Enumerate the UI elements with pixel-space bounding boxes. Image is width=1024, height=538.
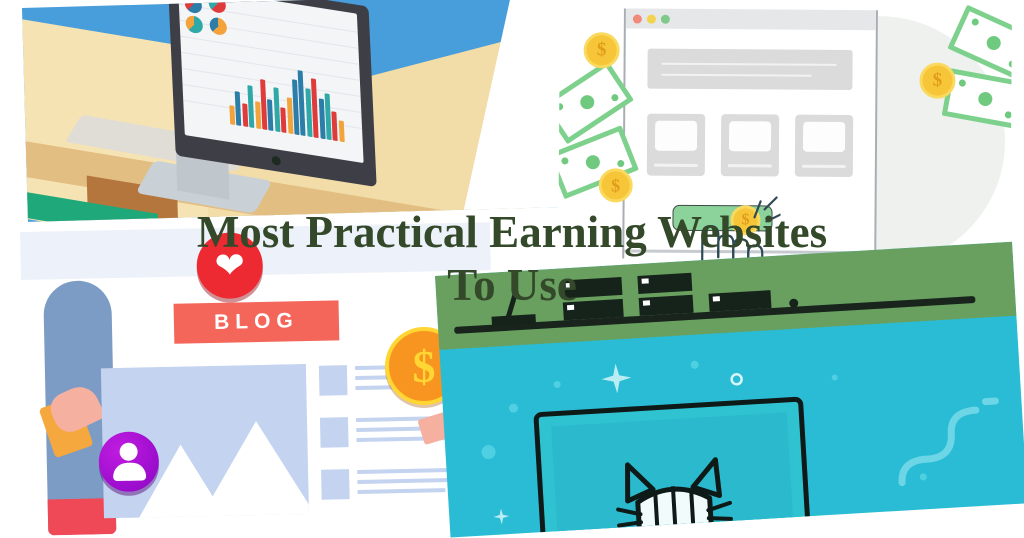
chart-bar [286,98,293,135]
cat-face-icon [611,451,736,538]
collage-banner: $ $ $ $ ❤ BLOG [0,0,1024,538]
ring-icon [729,372,744,392]
pie-chart [209,16,227,36]
heart-badge: ❤ [196,232,263,299]
avatar-head [119,443,137,461]
chart-bar [332,111,338,141]
dollar-coin: $ [919,63,955,99]
chart-bar [248,85,255,128]
dollar-coin: $ [599,168,633,202]
chart-bar [242,103,248,127]
pie-chart [185,15,203,35]
chart-bar [311,78,319,138]
panel-teal-tablet [435,242,1024,538]
drawer-glyph [639,295,694,316]
list-item[interactable] [321,467,462,514]
mountain-shape [198,420,309,518]
pie-chart [184,0,202,14]
bubble [690,361,698,369]
wire-decoration [889,393,1004,489]
tablet-frame [533,396,811,537]
bubble [481,445,496,460]
list-item-thumbnail [320,417,349,448]
pie-chart [208,0,226,14]
content-card [795,115,853,177]
drawer-glyph [709,290,772,312]
chart-bar [255,101,261,129]
content-card [721,114,779,176]
chart-bar [339,120,345,142]
chart-bar [280,107,286,133]
content-card [647,114,705,176]
list-item-thumbnail [321,469,350,500]
chart-bar [325,93,332,140]
blog-banner: BLOG [174,300,340,343]
browser-dot-red [633,14,642,23]
chart-bar [273,87,280,132]
sparkle-icon [601,363,633,400]
chart-bar [229,105,235,125]
drawer-glyph [561,277,622,299]
browser-dot-yellow [647,14,656,23]
list-item-thumbnail [319,365,348,396]
tablet-screen [551,412,794,537]
bubble [832,374,838,380]
browser-title-bar [626,8,876,30]
panel-browser-money: $ $ $ $ [558,2,1012,275]
hero-content-block [647,49,852,90]
sparkle-icon [493,508,510,530]
bubble [553,381,560,388]
bubble [509,403,519,413]
dollar-coin: $ [584,32,620,68]
panel-desk-monitor [22,0,628,222]
drawer-glyph [637,273,692,294]
browser-dot-green [661,14,670,23]
monitor [168,0,377,187]
drawer-glyph [563,299,624,321]
chart-bar [260,79,267,130]
avatar-body [112,462,145,481]
